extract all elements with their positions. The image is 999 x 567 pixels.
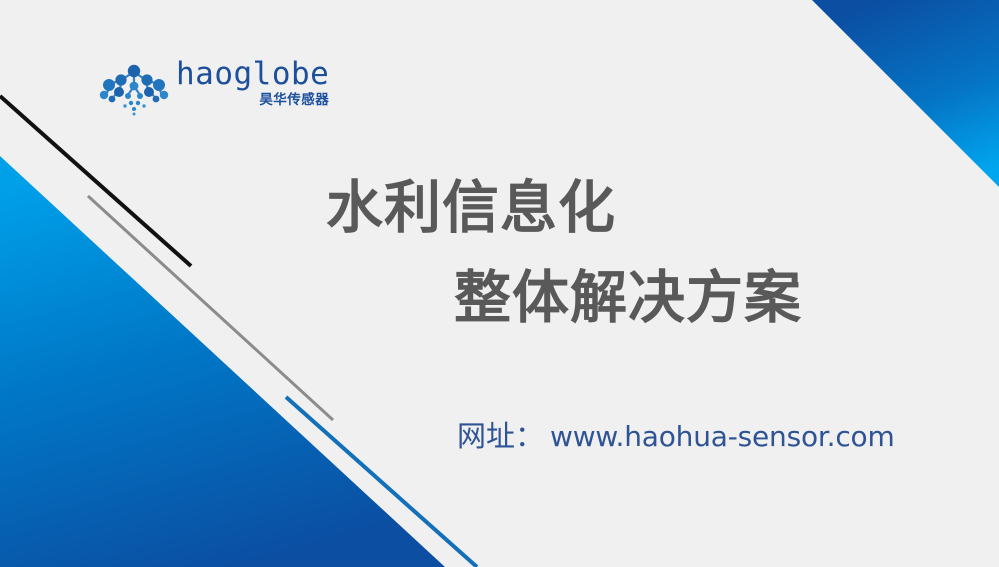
website-line: 网址： www.haohua-sensor.com bbox=[457, 418, 895, 455]
title-line-1: 水利信息化 bbox=[326, 163, 926, 253]
network-dots-icon bbox=[98, 62, 170, 118]
title-line-2: 整体解决方案 bbox=[326, 253, 926, 343]
top-right-triangle bbox=[812, 0, 999, 187]
slide-title: 水利信息化 整体解决方案 bbox=[326, 163, 926, 343]
website-label: 网址： bbox=[457, 418, 544, 454]
website-url[interactable]: www.haohua-sensor.com bbox=[550, 419, 895, 455]
logo-latin-text: haoglobe bbox=[176, 58, 329, 91]
logo-wordmark: haoglobe 昊华传感器 bbox=[176, 58, 329, 108]
logo-chinese-text: 昊华传感器 bbox=[259, 92, 329, 108]
presentation-title-slide: haoglobe 昊华传感器 水利信息化 整体解决方案 网址： www.haoh… bbox=[0, 0, 999, 567]
company-logo: haoglobe 昊华传感器 bbox=[98, 58, 329, 118]
